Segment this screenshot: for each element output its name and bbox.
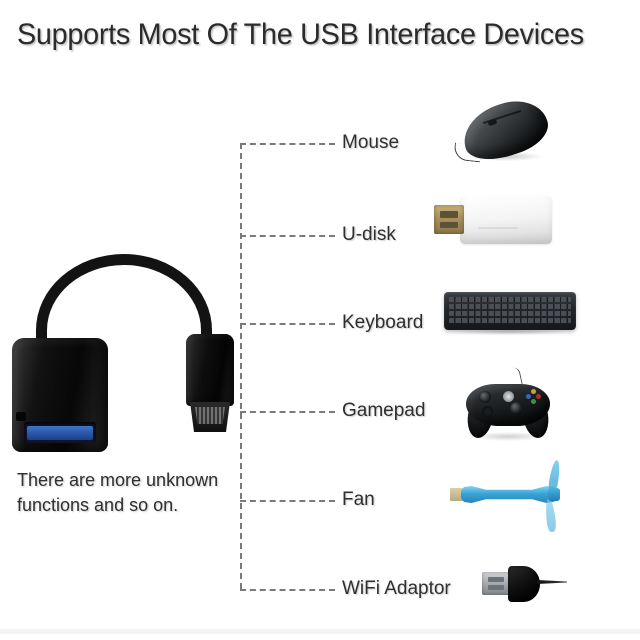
bottom-edge-band (0, 629, 640, 634)
gamepad-face-buttons (526, 389, 542, 405)
keyboard-key-row (449, 318, 571, 323)
device-label-keyboard: Keyboard (342, 312, 423, 334)
gamepad-button-x (526, 394, 531, 399)
gamepad-left-stick (479, 391, 491, 403)
gamepad-button-b (536, 394, 541, 399)
wifi-dongle-photo (482, 562, 592, 606)
wifi-antenna-stub (537, 580, 567, 584)
usb-c-male-housing (186, 334, 234, 406)
keyboard-body (444, 292, 576, 330)
branch-line-fan (240, 500, 335, 502)
flash-drive-seam (478, 227, 518, 229)
usb-c-contacts (195, 407, 225, 424)
branch-line-udisk (240, 235, 335, 237)
keyboard-key-row (449, 311, 571, 316)
usb-a-port (24, 422, 96, 443)
branch-line-wifi-adaptor (240, 589, 335, 591)
flash-drive-body (460, 196, 552, 244)
gamepad-guide-button (503, 391, 514, 402)
fan-flexible-neck (461, 486, 557, 503)
keyboard-key-row (449, 304, 571, 309)
usb-a-notch (16, 412, 26, 421)
caption-text: There are more unknown functions and so … (17, 468, 232, 518)
wifi-dongle-body (508, 566, 540, 602)
device-label-fan: Fan (342, 489, 375, 511)
page-title: Supports Most Of The USB Interface Devic… (17, 18, 584, 52)
branch-line-keyboard (240, 323, 335, 325)
device-label-udisk: U-disk (342, 224, 396, 246)
gamepad-button-a (531, 399, 536, 404)
usb-a-female-housing (12, 338, 108, 452)
gamepad-photo (466, 376, 550, 442)
usb-flash-drive-photo (432, 196, 552, 248)
flash-drive-usb-plug (434, 205, 464, 234)
keyboard-key-row (449, 297, 571, 302)
usb-3-blue-insert (27, 426, 93, 440)
device-label-gamepad: Gamepad (342, 400, 425, 422)
keyboard-photo (444, 292, 576, 336)
device-label-mouse: Mouse (342, 132, 399, 154)
gamepad-button-y (531, 389, 536, 394)
fan-blade-lower (544, 498, 557, 533)
branch-line-mouse (240, 143, 335, 145)
gamepad-dpad (482, 406, 493, 417)
bracket-trunk-line (240, 143, 242, 589)
usb-fan-photo (450, 466, 590, 536)
fan-hub (548, 488, 560, 501)
usb-otg-adapter-cable-photo (8, 252, 240, 452)
gamepad-right-stick (510, 402, 522, 414)
infographic-canvas: Supports Most Of The USB Interface Devic… (0, 0, 640, 640)
branch-line-gamepad (240, 411, 335, 413)
wifi-usb-plug (482, 572, 510, 595)
mouse-photo (452, 96, 562, 168)
device-label-wifi-adaptor: WiFi Adaptor (342, 578, 451, 600)
